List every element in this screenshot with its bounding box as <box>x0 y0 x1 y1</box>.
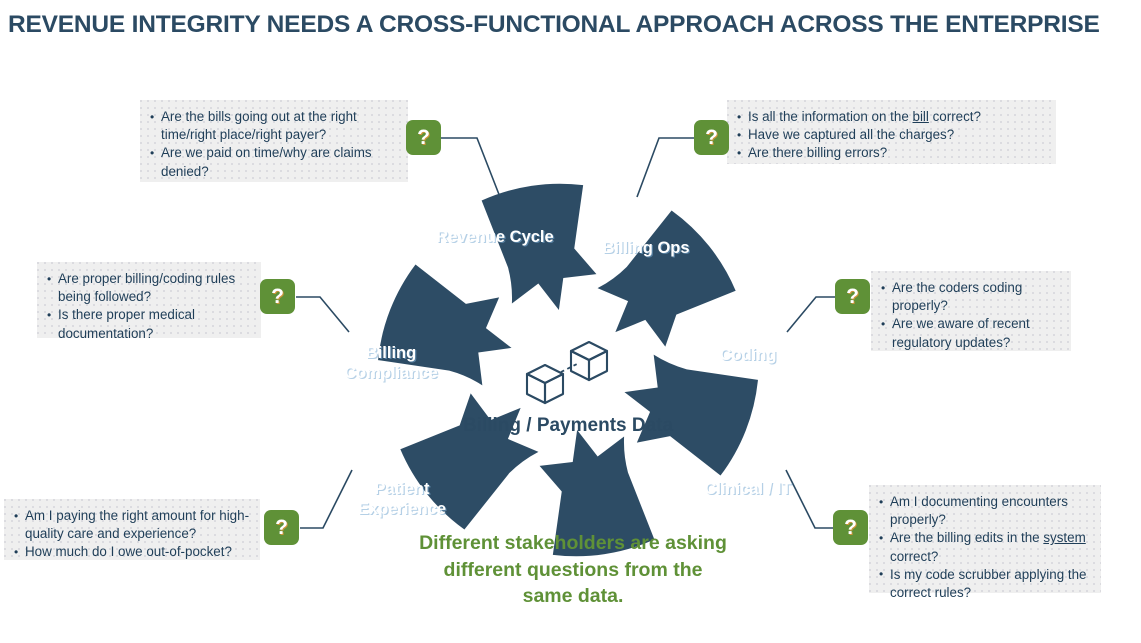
segment-revenue-cycle[interactable] <box>472 163 623 325</box>
question-badge-revenue-cycle[interactable]: ? <box>406 120 441 155</box>
list-item: Am I paying the right amount for high-qu… <box>14 507 250 543</box>
underlined-word: bill <box>913 109 929 124</box>
callout-patient-experience: Am I paying the right amount for high-qu… <box>4 499 260 560</box>
question-badge-patient-experience[interactable]: ? <box>264 510 299 545</box>
segment-billing-compliance[interactable] <box>376 261 521 389</box>
connector-billing-compliance <box>296 297 349 332</box>
center-label: Billing / Payments Data <box>448 413 688 438</box>
question-badge-billing-compliance[interactable]: ? <box>260 279 295 314</box>
segment-label-billing-ops: Billing Ops <box>576 238 716 258</box>
question-badge-coding[interactable]: ? <box>835 279 870 314</box>
connector-clinical-it <box>786 470 838 528</box>
list-item: Are the bills going out at the right tim… <box>150 108 398 144</box>
question-badge-clinical-it[interactable]: ? <box>833 510 868 545</box>
list-item: Is there proper medical documentation? <box>47 306 251 342</box>
segment-label-billing-compliance: Billing Compliance <box>321 343 461 383</box>
callout-list: Are proper billing/coding rules being fo… <box>47 270 251 343</box>
list-item: Are the coders coding properly? <box>881 279 1061 315</box>
tagline: Different stakeholders are asking differ… <box>418 530 728 610</box>
page-title: Revenue Integrity Needs a Cross-Function… <box>8 8 1133 42</box>
list-item: Have we captured all the charges? <box>737 126 1046 144</box>
callout-revenue-cycle: Are the bills going out at the right tim… <box>140 100 408 182</box>
callout-coding: Are the coders coding properly? Are we a… <box>871 271 1071 351</box>
list-item: Are there billing errors? <box>737 144 1046 162</box>
callout-list: Am I documenting encounters properly? Ar… <box>879 493 1091 602</box>
list-item: Is my code scrubber applying the correct… <box>879 566 1091 602</box>
callout-list: Is all the information on the bill corre… <box>737 108 1046 163</box>
segment-label-revenue-cycle: Revenue Cycle <box>425 227 565 247</box>
segment-label-coding: Coding <box>678 345 818 365</box>
connector-patient-experience <box>300 470 352 528</box>
list-item: Are the billing edits in the system corr… <box>879 529 1091 565</box>
list-item: How much do I owe out-of-pocket? <box>14 543 250 561</box>
connector-revenue-cycle <box>441 138 500 197</box>
list-item: Is all the information on the bill corre… <box>737 108 1046 126</box>
diagram-canvas: Revenue Integrity Needs a Cross-Function… <box>0 0 1141 643</box>
question-badge-billing-ops[interactable]: ? <box>694 120 729 155</box>
list-item: Am I documenting encounters properly? <box>879 493 1091 529</box>
callout-clinical-it: Am I documenting encounters properly? Ar… <box>869 485 1101 593</box>
list-item: Are we paid on time/why are claims denie… <box>150 144 398 180</box>
list-item: Are proper billing/coding rules being fo… <box>47 270 251 306</box>
connector-coding <box>787 297 840 332</box>
callout-list: Are the bills going out at the right tim… <box>150 108 398 181</box>
callout-list: Am I paying the right amount for high-qu… <box>14 507 250 562</box>
callout-list: Are the coders coding properly? Are we a… <box>881 279 1061 352</box>
connector-billing-ops <box>637 138 695 197</box>
list-item: Are we aware of recent regulatory update… <box>881 315 1061 351</box>
callout-billing-compliance: Are proper billing/coding rules being fo… <box>37 262 261 338</box>
segment-label-clinical-it: Clinical / IT <box>678 479 818 499</box>
linked-cubes-icon <box>515 340 621 410</box>
underlined-word: system <box>1043 530 1085 545</box>
callout-billing-ops: Is all the information on the bill corre… <box>727 100 1056 164</box>
segment-label-patient-experience: Patient Experience <box>332 479 472 519</box>
